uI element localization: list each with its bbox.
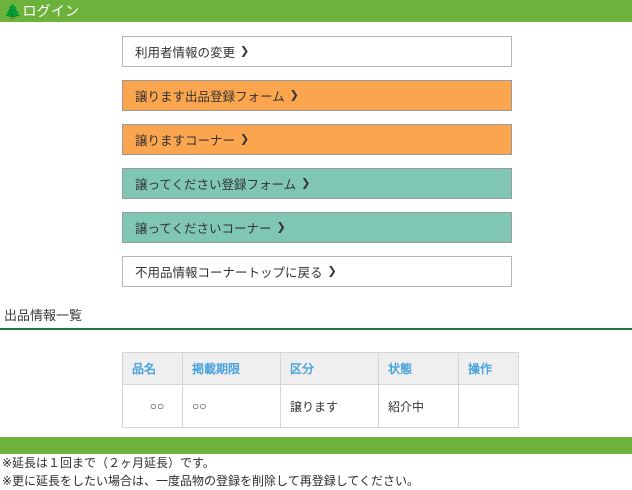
chevron-right-icon: ❯ bbox=[290, 91, 299, 102]
column-header-name: 品名 bbox=[123, 353, 183, 385]
column-header-action: 操作 bbox=[459, 353, 519, 385]
nav-button-give-away-registration-form[interactable]: 譲ります出品登録フォーム ❯ bbox=[122, 80, 512, 111]
cell-deadline: ○○ bbox=[183, 385, 281, 428]
chevron-right-icon: ❯ bbox=[301, 179, 310, 190]
section-divider bbox=[0, 328, 632, 330]
column-header-category: 区分 bbox=[281, 353, 379, 385]
listing-section: 出品情報一覧 bbox=[0, 305, 632, 330]
chevron-right-icon: ❯ bbox=[277, 223, 286, 234]
chevron-right-icon: ❯ bbox=[240, 135, 249, 146]
nav-button-stack: 利用者情報の変更 ❯ 譲ります出品登録フォーム ❯ 譲りますコーナー ❯ 譲って… bbox=[0, 22, 632, 287]
nav-button-request-corner[interactable]: 譲ってくださいコーナー ❯ bbox=[122, 212, 512, 243]
nav-button-label: 譲りますコーナー bbox=[135, 130, 235, 149]
column-header-deadline: 掲載期限 bbox=[183, 353, 281, 385]
nav-button-give-away-corner[interactable]: 譲りますコーナー ❯ bbox=[122, 124, 512, 155]
section-title: 出品情報一覧 bbox=[0, 305, 632, 324]
page-header: 🌲 ログイン bbox=[0, 0, 632, 22]
cell-category: 譲ります bbox=[281, 385, 379, 428]
page-title: ログイン bbox=[22, 0, 79, 22]
page-footer bbox=[0, 437, 632, 454]
nav-button-label: 利用者情報の変更 bbox=[135, 42, 235, 61]
listing-table: 品名 掲載期限 区分 状態 操作 ○○ ○○ 譲ります 紹介中 bbox=[122, 352, 519, 428]
table-header-row: 品名 掲載期限 区分 状態 操作 bbox=[123, 353, 519, 385]
nav-button-back-to-top[interactable]: 不用品情報コーナートップに戻る ❯ bbox=[122, 256, 512, 287]
cell-action[interactable] bbox=[459, 385, 519, 428]
nav-button-label: 不用品情報コーナートップに戻る bbox=[135, 262, 323, 281]
nav-button-change-user-info[interactable]: 利用者情報の変更 ❯ bbox=[122, 36, 512, 67]
column-header-status: 状態 bbox=[379, 353, 459, 385]
chevron-right-icon: ❯ bbox=[328, 267, 337, 278]
tree-icon: 🌲 bbox=[4, 4, 21, 18]
cell-status: 紹介中 bbox=[379, 385, 459, 428]
notes-line: ※更に延長をしたい場合は、一度品物の登録を削除して再登録してください。 bbox=[2, 472, 632, 490]
notes-line: ※延長は１回まで（２ヶ月延長）です。 bbox=[2, 454, 632, 472]
cell-name: ○○ bbox=[123, 385, 183, 428]
table-row: ○○ ○○ 譲ります 紹介中 bbox=[123, 385, 519, 428]
chevron-right-icon: ❯ bbox=[240, 47, 249, 58]
nav-button-label: 譲ります出品登録フォーム bbox=[135, 86, 285, 105]
nav-button-label: 譲ってください登録フォーム bbox=[135, 174, 296, 193]
listing-table-wrapper: 品名 掲載期限 区分 状態 操作 ○○ ○○ 譲ります 紹介中 bbox=[122, 352, 518, 428]
nav-button-request-registration-form[interactable]: 譲ってください登録フォーム ❯ bbox=[122, 168, 512, 199]
nav-button-label: 譲ってくださいコーナー bbox=[135, 218, 272, 237]
